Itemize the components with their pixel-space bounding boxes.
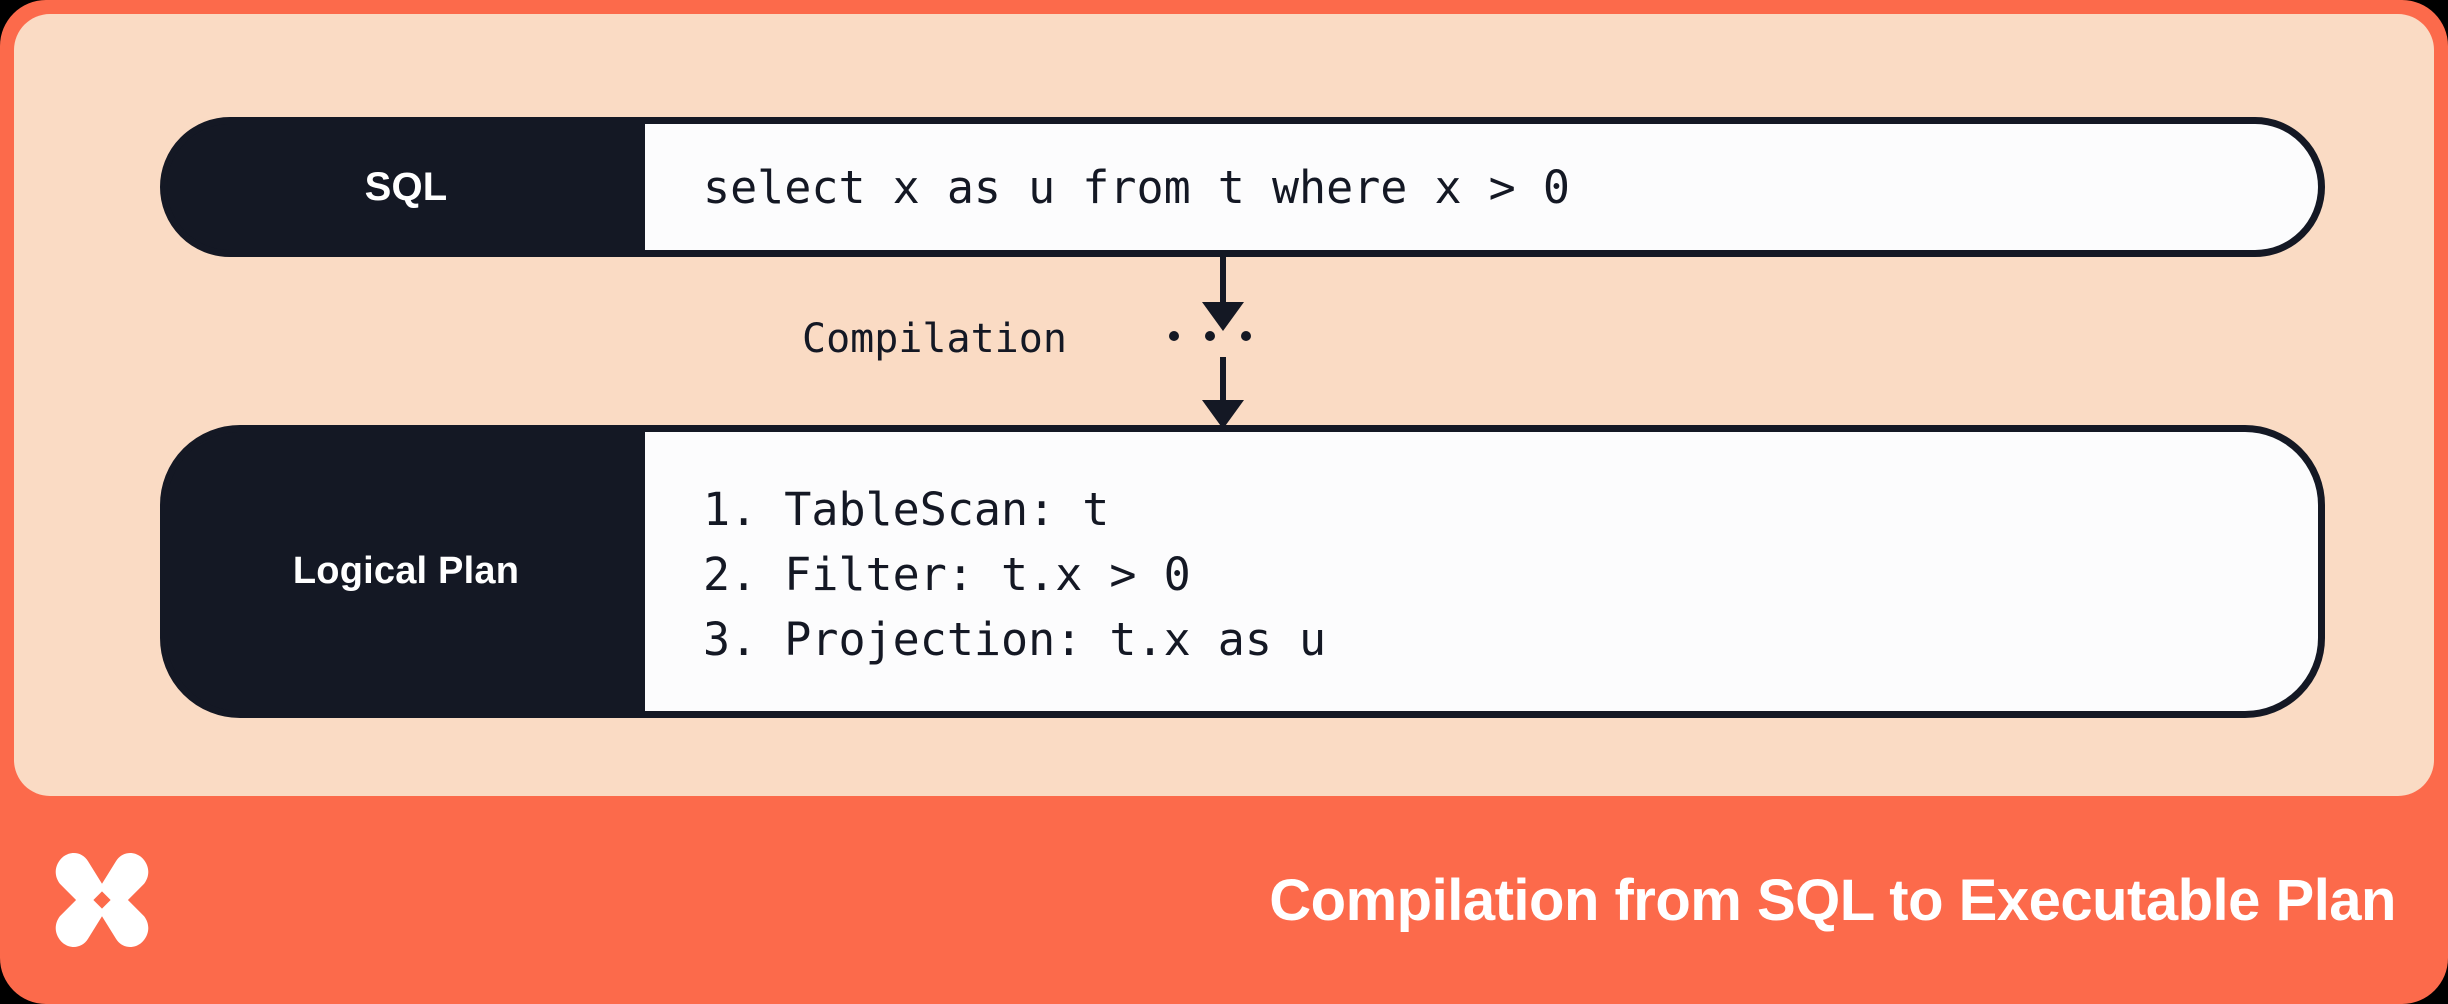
sql-statement: select x as u from t where x > 0 [703, 165, 2318, 210]
arrow-shaft-lower [1220, 357, 1226, 402]
banner-title: Compilation from SQL to Executable Plan [1269, 867, 2396, 934]
logical-plan-row-content: 1. TableScan: t 2. Filter: t.x > 0 3. Pr… [645, 432, 2318, 711]
arrow-head-upper-icon [1202, 302, 1244, 331]
compilation-label: Compilation [802, 316, 1067, 362]
poster-card: SQL select x as u from t where x > 0 Log… [0, 0, 2448, 1004]
sql-row-label: SQL [167, 124, 645, 250]
plan-step-1: 1. TableScan: t [703, 477, 2318, 542]
sql-row-content: select x as u from t where x > 0 [645, 124, 2318, 250]
logical-plan-row: Logical Plan 1. TableScan: t 2. Filter: … [160, 425, 2325, 718]
x-star-logo-icon [48, 846, 156, 954]
sql-row: SQL select x as u from t where x > 0 [160, 117, 2325, 257]
arrow-shaft-upper [1220, 257, 1226, 304]
footer-banner: Compilation from SQL to Executable Plan [0, 796, 2448, 1004]
logical-plan-row-label: Logical Plan [167, 432, 645, 711]
ellipsis-icon [1169, 331, 1251, 341]
ellipsis-dot [1205, 331, 1215, 341]
plan-step-2: 2. Filter: t.x > 0 [703, 542, 2318, 607]
ellipsis-dot [1169, 331, 1179, 341]
ellipsis-dot [1241, 331, 1251, 341]
plan-step-3: 3. Projection: t.x as u [703, 607, 2318, 672]
diagram-panel: SQL select x as u from t where x > 0 Log… [14, 14, 2434, 796]
